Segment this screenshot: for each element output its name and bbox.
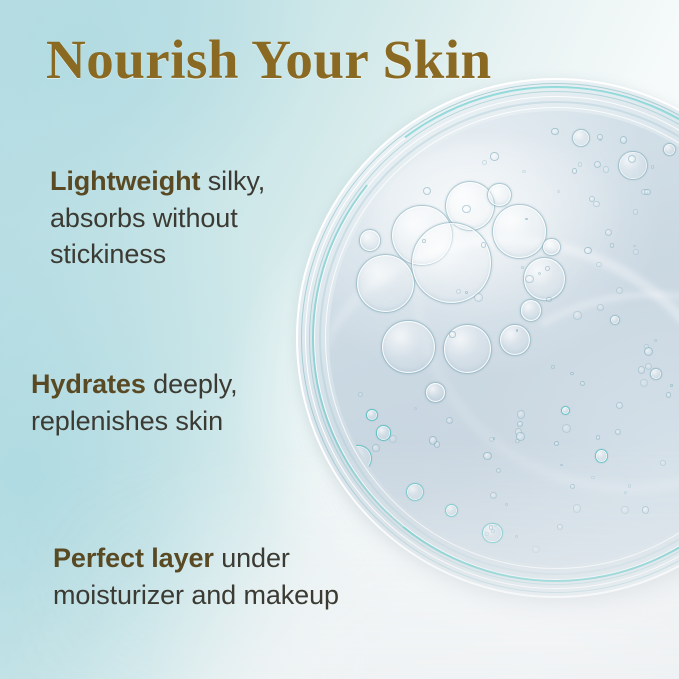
gel-microbubble (481, 242, 486, 247)
gel-microbubble (516, 329, 519, 332)
gel-microbubble (605, 229, 612, 236)
gel-bubble (366, 409, 378, 421)
gel-microbubble (545, 266, 550, 271)
gel-microbubble (670, 384, 673, 387)
gel-bubble (492, 204, 546, 258)
gel-microbubble (525, 275, 533, 283)
gel-bubble (650, 368, 662, 380)
gel-microbubble (666, 392, 671, 397)
gel-microbubble (628, 155, 636, 163)
gel-microbubble (597, 134, 603, 140)
gel-bubble (561, 406, 570, 415)
gel-microbubble (603, 166, 610, 173)
gel-bubble (542, 238, 560, 256)
gel-microbubble (456, 289, 461, 294)
gel-microbubble (578, 162, 582, 166)
gel-microbubble (620, 136, 628, 144)
gel-microbubble (422, 239, 426, 243)
gel-bubble (359, 229, 382, 252)
gel-microbubble (517, 410, 526, 419)
gel-bubble (411, 222, 493, 304)
gel-microbubble (596, 262, 601, 267)
gel-microbubble (490, 152, 498, 160)
gel-microbubble (633, 209, 638, 214)
gel-microbubble (462, 205, 471, 214)
feature-2-bold: Hydrates (31, 369, 146, 399)
gel-bubble (425, 382, 445, 402)
gel-microbubble (449, 331, 455, 337)
gel-microbubble (517, 421, 523, 427)
gel-microbubble (562, 424, 571, 433)
gel-microbubble (525, 218, 527, 220)
gel-microbubble (616, 287, 623, 294)
gel-microbubble (521, 266, 524, 269)
feature-item-lightweight: Lightweight silky, absorbs without stick… (50, 163, 320, 273)
product-feature-graphic: Nourish Your Skin Lightweight silky, abs… (0, 0, 679, 679)
gel-bubble (487, 183, 512, 208)
gel-microbubble (414, 407, 417, 410)
feature-1-bold: Lightweight (50, 166, 200, 196)
gel-microbubble (570, 372, 574, 376)
page-title: Nourish Your Skin (46, 28, 492, 91)
gel-microbubble (551, 128, 559, 136)
gel-microbubble (610, 243, 615, 248)
gel-bubble (610, 315, 620, 325)
gel-microbubble (651, 165, 655, 169)
gel-microbubble (593, 201, 600, 208)
gel-microbubble (640, 379, 648, 387)
gel-bubble (381, 320, 435, 374)
gel-microbubble (584, 247, 591, 254)
feature-item-hydrates: Hydrates deeply, replenishes skin (31, 366, 321, 439)
gel-microbubble (644, 344, 649, 349)
gel-microbubble (616, 402, 623, 409)
gel-microbubble (573, 311, 581, 319)
feature-item-perfect-layer: Perfect layer under moisturizer and make… (53, 540, 403, 613)
gel-bubble (356, 254, 415, 313)
gel-microbubble (633, 249, 639, 255)
feature-3-bold: Perfect layer (53, 543, 214, 573)
gel-microbubble (597, 304, 604, 311)
